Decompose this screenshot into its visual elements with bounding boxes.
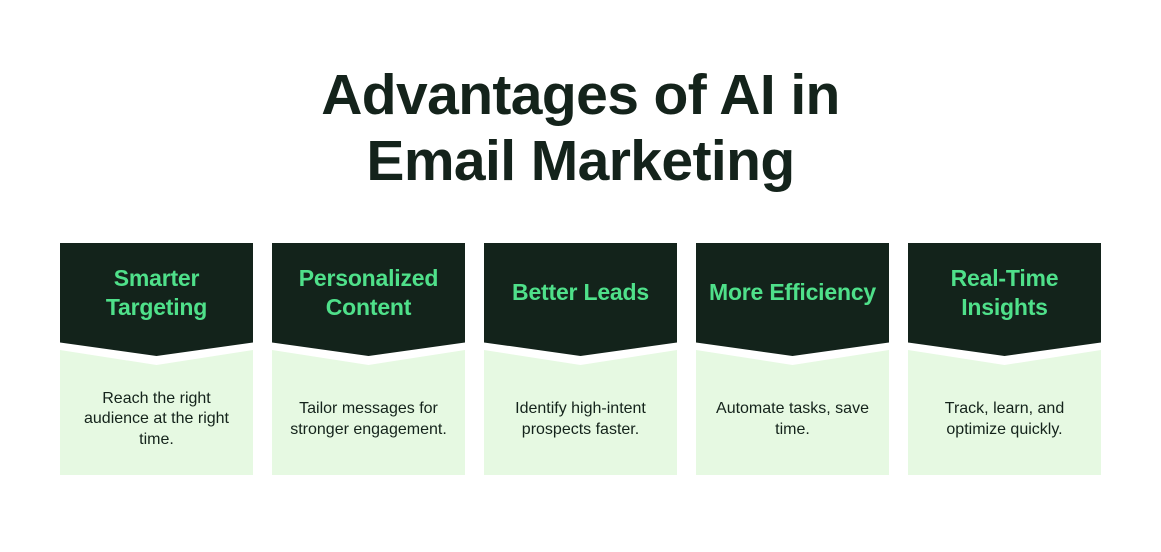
- card-body-text: Identify high-intent prospects faster.: [492, 399, 669, 440]
- card-body-text: Track, learn, and optimize quickly.: [916, 399, 1093, 440]
- card-body-text: Tailor messages for stronger engagement.: [280, 399, 457, 440]
- advantage-card-personalized-content: Personalized Content Tailor messages for…: [272, 243, 465, 475]
- card-body-panel: Tailor messages for stronger engagement.: [272, 350, 465, 475]
- card-heading: More Efficiency: [702, 278, 883, 307]
- card-heading: Smarter Targeting: [66, 264, 247, 322]
- card-body-text: Automate tasks, save time.: [704, 399, 881, 440]
- card-header-chevron: Personalized Content: [272, 243, 465, 356]
- card-heading: Real-Time Insights: [914, 264, 1095, 322]
- advantage-card-real-time-insights: Real-Time Insights Track, learn, and opt…: [908, 243, 1101, 475]
- infographic-poster: Advantages of AI in Email Marketing Smar…: [0, 0, 1161, 552]
- card-body-panel: Identify high-intent prospects faster.: [484, 350, 677, 475]
- advantage-card-more-efficiency: More Efficiency Automate tasks, save tim…: [696, 243, 889, 475]
- card-header-chevron: Smarter Targeting: [60, 243, 253, 356]
- card-heading: Personalized Content: [278, 264, 459, 322]
- page-title-line-1: Advantages of AI in: [0, 62, 1161, 128]
- card-body-panel: Track, learn, and optimize quickly.: [908, 350, 1101, 475]
- page-title: Advantages of AI in Email Marketing: [0, 62, 1161, 194]
- page-title-line-2: Email Marketing: [0, 128, 1161, 194]
- card-heading: Better Leads: [490, 278, 671, 307]
- card-header-chevron: Better Leads: [484, 243, 677, 356]
- card-body-panel: Reach the right audience at the right ti…: [60, 350, 253, 475]
- card-header-chevron: More Efficiency: [696, 243, 889, 356]
- advantage-card-smarter-targeting: Smarter Targeting Reach the right audien…: [60, 243, 253, 475]
- card-body-text: Reach the right audience at the right ti…: [68, 389, 245, 451]
- advantage-card-list: Smarter Targeting Reach the right audien…: [60, 243, 1101, 475]
- card-header-chevron: Real-Time Insights: [908, 243, 1101, 356]
- card-body-panel: Automate tasks, save time.: [696, 350, 889, 475]
- advantage-card-better-leads: Better Leads Identify high-intent prospe…: [484, 243, 677, 475]
